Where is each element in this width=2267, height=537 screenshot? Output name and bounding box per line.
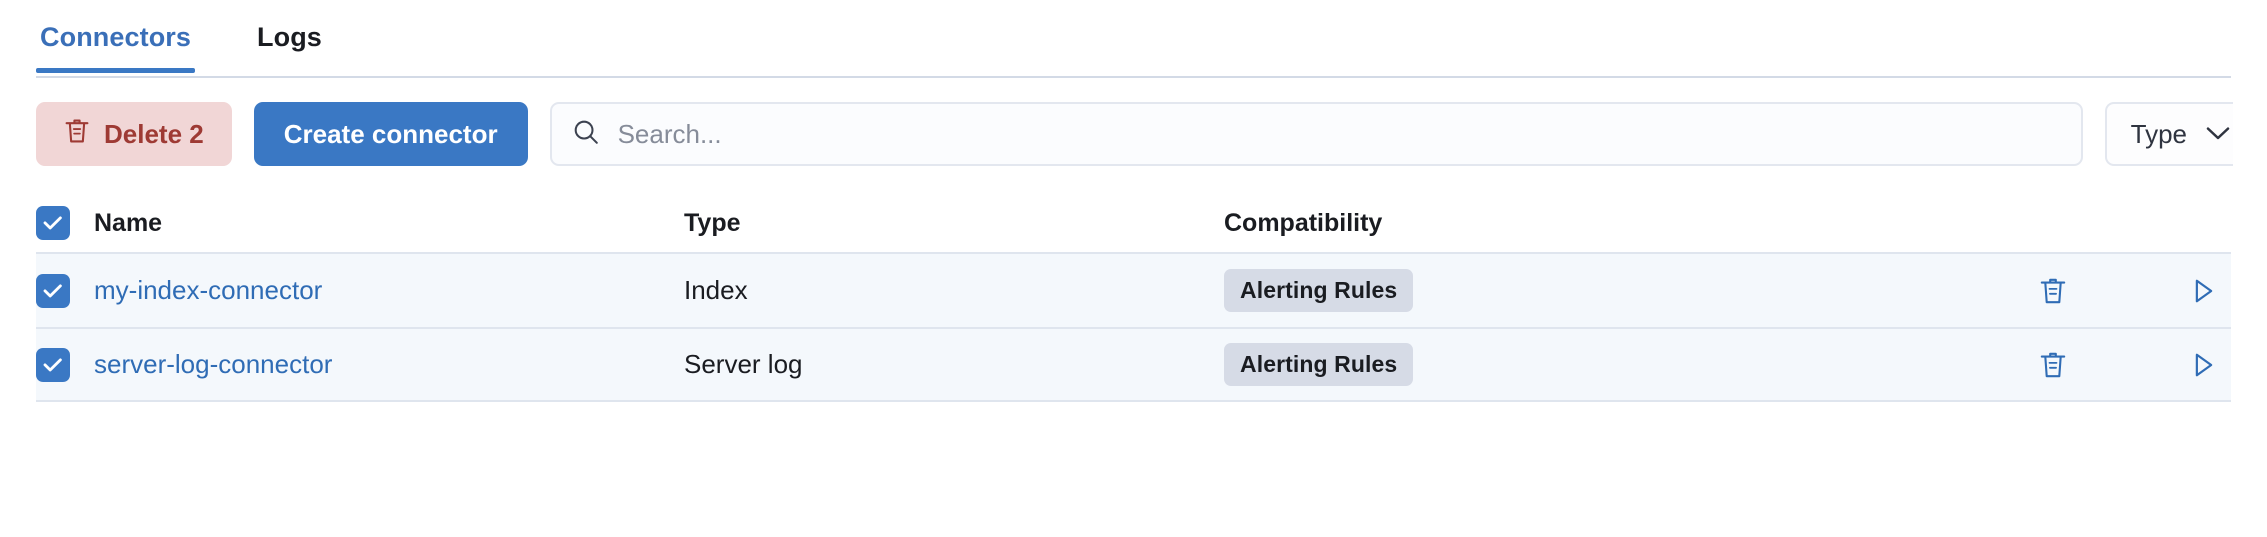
- tab-logs[interactable]: Logs: [253, 0, 326, 73]
- run-row-icon[interactable]: [2181, 269, 2225, 313]
- connector-name-cell: my-index-connector: [94, 275, 684, 306]
- tab-logs-label: Logs: [257, 22, 322, 52]
- tab-connectors-label: Connectors: [40, 22, 191, 52]
- select-all-cell: [36, 206, 94, 240]
- select-all-checkbox[interactable]: [36, 206, 70, 240]
- toolbar: Delete 2 Create connector Type: [0, 78, 2267, 166]
- row-actions: [2031, 269, 2231, 313]
- chevron-down-icon: [2203, 119, 2233, 150]
- search-box[interactable]: [550, 102, 2083, 166]
- connector-type-cell: Index: [684, 275, 1224, 306]
- search-input[interactable]: [616, 118, 2061, 151]
- status-badge: Alerting Rules: [1224, 343, 1413, 386]
- create-connector-button[interactable]: Create connector: [254, 102, 528, 166]
- column-header-compatibility[interactable]: Compatibility: [1224, 209, 2031, 238]
- connector-name-link[interactable]: server-log-connector: [94, 349, 332, 379]
- status-badge: Alerting Rules: [1224, 269, 1413, 312]
- column-header-type[interactable]: Type: [684, 209, 1224, 238]
- type-filter-dropdown[interactable]: Type: [2105, 102, 2233, 166]
- type-filter-label: Type: [2131, 119, 2187, 150]
- connectors-table: Name Type Compatibility my-index-connect…: [36, 194, 2231, 402]
- table-row: server-log-connector Server log Alerting…: [36, 327, 2231, 402]
- row-checkbox[interactable]: [36, 274, 70, 308]
- run-row-icon[interactable]: [2181, 343, 2225, 387]
- delete-row-icon[interactable]: [2031, 269, 2075, 313]
- search-icon: [572, 118, 600, 151]
- delete-row-icon[interactable]: [2031, 343, 2075, 387]
- column-header-name[interactable]: Name: [94, 209, 684, 238]
- create-connector-label: Create connector: [284, 119, 498, 150]
- connector-compatibility-cell: Alerting Rules: [1224, 269, 2031, 312]
- row-actions: [2031, 343, 2231, 387]
- connector-compatibility-cell: Alerting Rules: [1224, 343, 2031, 386]
- table-header-row: Name Type Compatibility: [36, 194, 2231, 252]
- trash-icon: [64, 116, 90, 153]
- row-select-cell: [36, 348, 94, 382]
- tab-connectors[interactable]: Connectors: [36, 0, 195, 73]
- table-row: my-index-connector Index Alerting Rules: [36, 252, 2231, 327]
- connector-name-link[interactable]: my-index-connector: [94, 275, 322, 305]
- connectors-page: Connectors Logs Delete 2 Create connecto…: [0, 0, 2267, 537]
- delete-button[interactable]: Delete 2: [36, 102, 232, 166]
- tab-bar: Connectors Logs: [0, 0, 2267, 78]
- row-checkbox[interactable]: [36, 348, 70, 382]
- row-select-cell: [36, 274, 94, 308]
- delete-button-label: Delete 2: [104, 119, 204, 150]
- connector-name-cell: server-log-connector: [94, 349, 684, 380]
- connector-type-cell: Server log: [684, 349, 1224, 380]
